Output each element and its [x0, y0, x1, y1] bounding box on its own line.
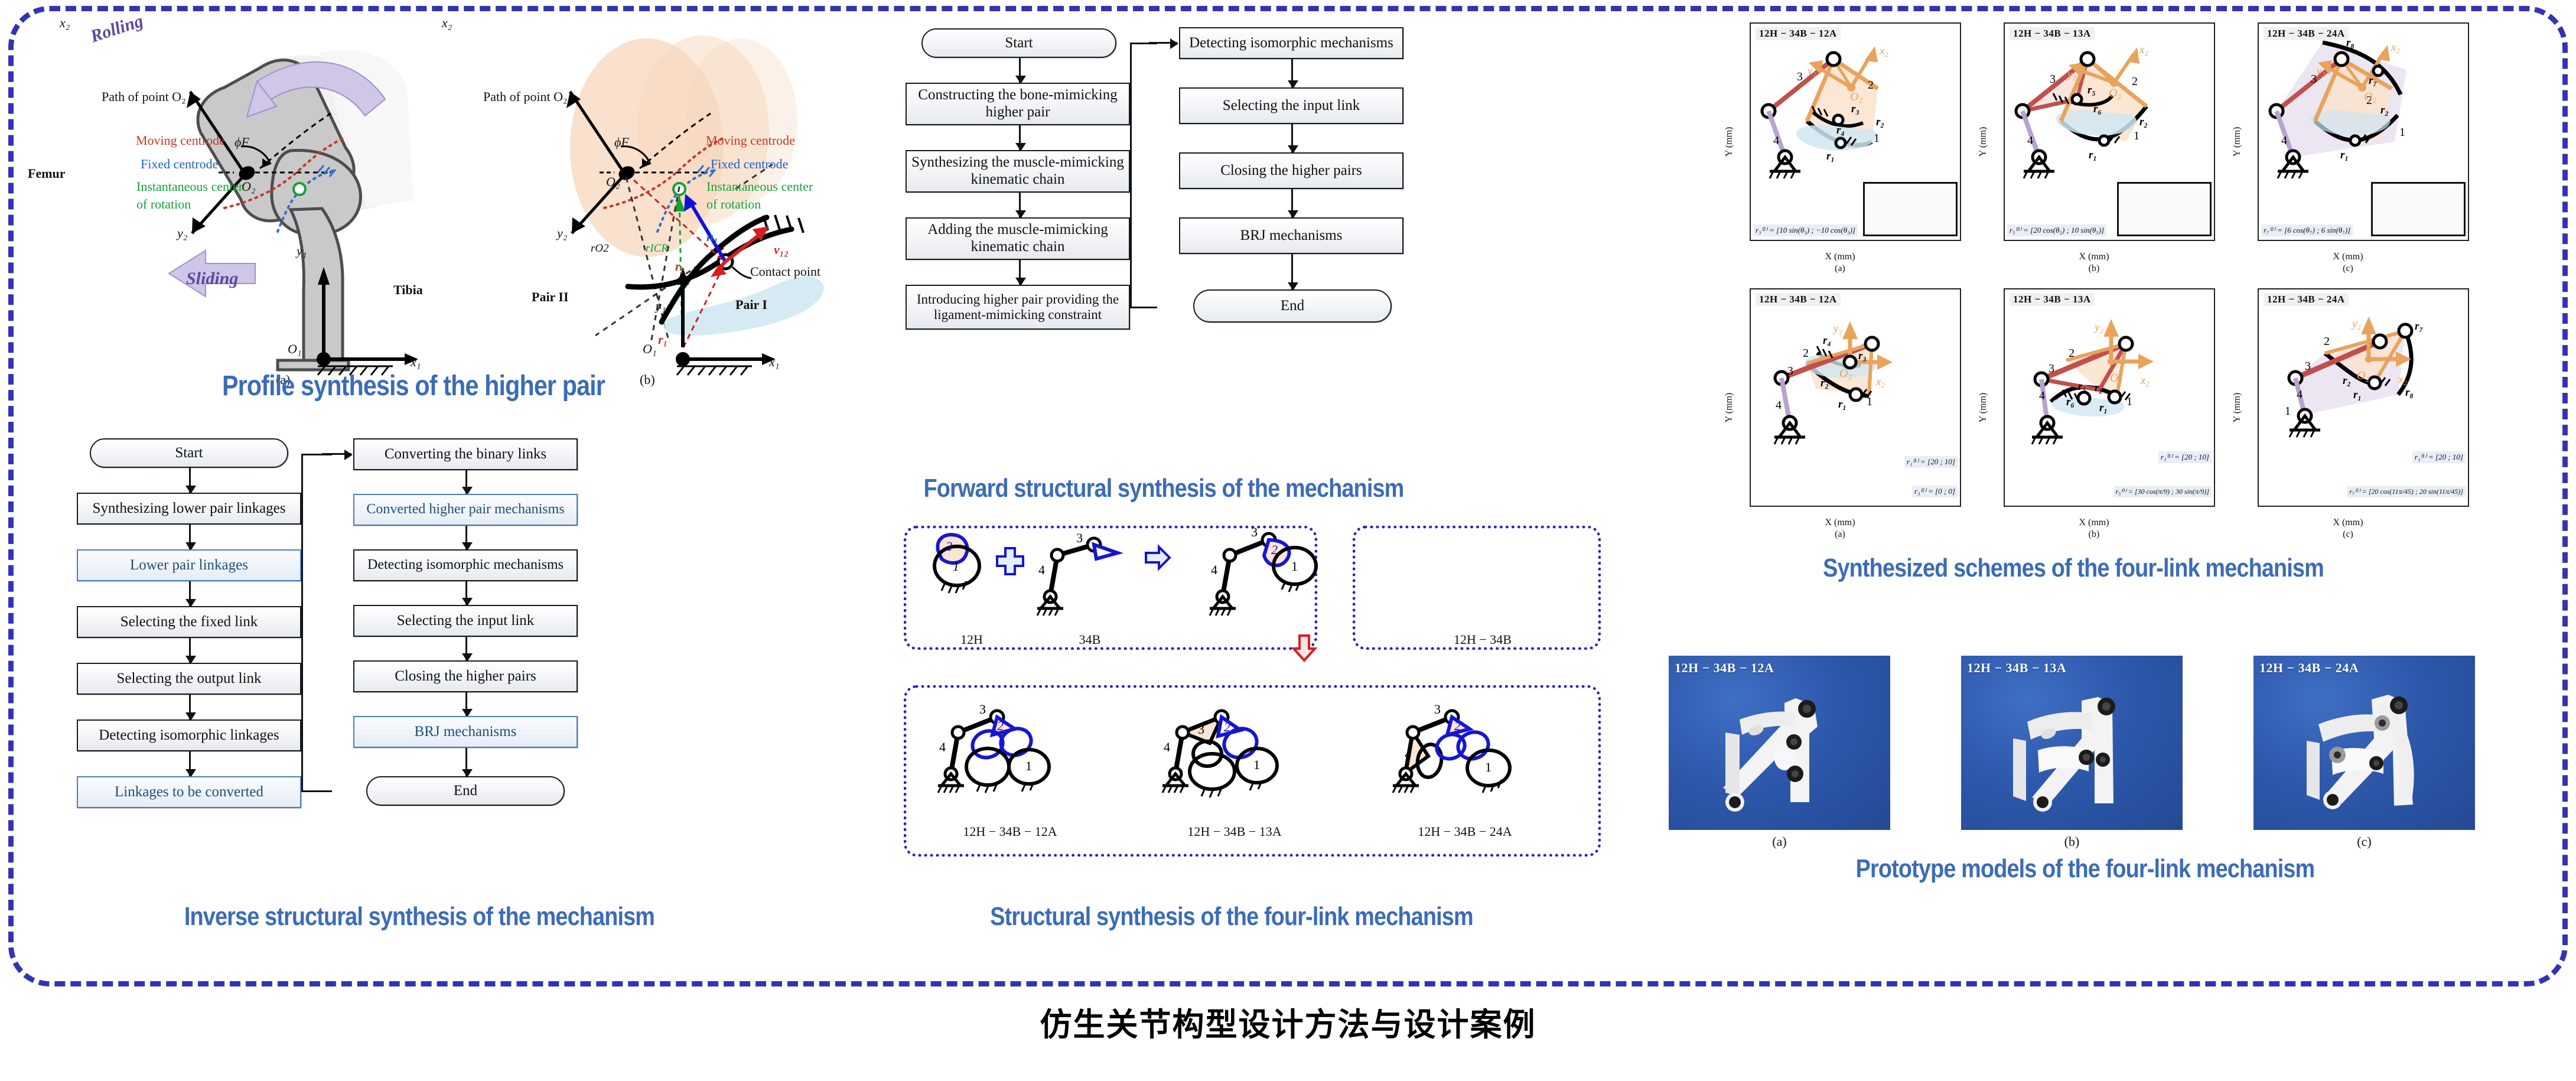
chart-top-2: Y (mm) 12H − 34B − 13A 50 40 30 20 10 0 … — [1967, 12, 2221, 272]
chart-subcaption: (c) — [2343, 529, 2353, 540]
svg-text:O₂: O₂ — [2357, 369, 2369, 382]
chart-xlabel: X (mm) — [2333, 517, 2363, 528]
flow-arrow — [1019, 58, 1021, 83]
origin-o2-b: O₂ — [606, 174, 620, 190]
chart-equation-1: r₁⁽¹⁾ = [20 ; 10] — [1904, 456, 1958, 468]
svg-text:3: 3 — [2311, 73, 2317, 86]
svg-text:r₆: r₆ — [2066, 396, 2075, 408]
prototype-shape-a — [1669, 656, 1890, 830]
svg-text:1: 1 — [1291, 559, 1298, 574]
r-icr-label: rICR — [646, 242, 668, 255]
svg-text:4: 4 — [2039, 389, 2045, 402]
flow-right-6[interactable]: End — [366, 776, 565, 806]
prototype-caption-b: (b) — [1961, 834, 2183, 849]
axis-label-y1-a: y₁ — [297, 243, 307, 259]
svg-text:1: 1 — [953, 559, 959, 574]
flow-right-4[interactable]: Closing the higher pairs — [353, 660, 578, 692]
four-link-synthesis-title: Structural synthesis of the four-link me… — [894, 904, 1569, 930]
mechanism-diagrams-svg: 2 1 4 3 — [886, 520, 1624, 862]
flow-arrow — [465, 692, 467, 716]
svg-text:r₂: r₂ — [1876, 116, 1884, 128]
mech-label-24a: 12H − 34B − 24A — [1376, 824, 1554, 839]
fwd-right-0[interactable]: Detecting isomorphic mechanisms — [1179, 27, 1403, 59]
svg-text:2: 2 — [1803, 347, 1809, 360]
svg-text:x₂: x₂ — [1879, 45, 1888, 57]
svg-text:x₂: x₂ — [2391, 41, 2400, 54]
svg-text:4: 4 — [1776, 399, 1782, 412]
forward-flow-title: Forward structural synthesis of the mech… — [864, 476, 1464, 502]
flow-connector-arrow — [322, 453, 351, 455]
axis-label-x2-a: x₂ — [60, 15, 70, 31]
mech-label-12h-34b: 12H − 34B — [1418, 632, 1548, 647]
svg-text:4: 4 — [2027, 134, 2033, 147]
chart-linkage-svg: 2 3 4 1 O₂ x₂ y₂ r₇ r₈ r₂ r₁ — [2259, 289, 2469, 496]
svg-text:1: 1 — [2399, 126, 2405, 139]
svg-text:3: 3 — [1434, 702, 1441, 717]
chart-bot-3: Y (mm) 12H − 34B − 24A 60 40 20 0 -20 -3… — [2221, 278, 2475, 538]
svg-text:O₂: O₂ — [1839, 367, 1852, 380]
chart-plot-area: 12H − 34B − 24A 50 40 30 20 10 0 -10 -20… — [2258, 22, 2469, 241]
svg-text:r₈: r₈ — [2405, 386, 2414, 399]
svg-text:y₂: y₂ — [2351, 318, 2361, 330]
flow-left-6[interactable]: Linkages to be converted — [77, 776, 301, 808]
flow-left-2[interactable]: Lower pair linkages — [77, 549, 301, 581]
svg-text:r₃: r₃ — [1858, 350, 1867, 362]
chart-equation-2: r₅⁽³⁾ = [30 cos(π/9) ; 30 sin(π/9)] — [2113, 486, 2212, 497]
svg-text:2: 2 — [946, 539, 952, 553]
fwd-left-4[interactable]: Introducing higher pair providing the li… — [906, 285, 1130, 330]
chart-plot-area: 12H − 34B − 12A 60 40 20 0 -20 -30 -10 1… — [1750, 288, 1961, 507]
chart-inset — [2371, 182, 2466, 236]
svg-text:1: 1 — [2285, 405, 2291, 418]
chart-xlabel: X (mm) — [2079, 517, 2109, 528]
flow-arrow — [1291, 254, 1293, 289]
prototype-caption-c: (c) — [2253, 834, 2475, 849]
chart-ylabel: Y (mm) — [1724, 393, 1734, 423]
chart-plot-area: 12H − 34B − 13A 50 40 30 20 10 0 -10 -20… — [2004, 22, 2215, 241]
svg-text:r₄: r₄ — [1823, 334, 1831, 347]
chart-ylabel: Y (mm) — [1724, 127, 1734, 157]
flow-right-1[interactable]: Converted higher pair mechanisms — [353, 494, 578, 526]
phi-f-label-a: ϕF — [235, 135, 249, 150]
flow-arrow — [1291, 189, 1293, 217]
chart-equation: r₇⁽²⁾ = [6 cos(θ₇) ; 6 sin(θ₇)] — [2261, 224, 2353, 236]
svg-text:r₁: r₁ — [2099, 402, 2108, 414]
icr-label-b2: of rotation — [706, 197, 761, 212]
flow-arrow — [189, 751, 191, 776]
fwd-right-1[interactable]: Selecting the input link — [1179, 87, 1403, 124]
svg-text:r₃: r₃ — [1851, 103, 1859, 115]
svg-text:r₅: r₅ — [2078, 380, 2086, 393]
profile-synthesis-title: Profile synthesis of the higher pair — [89, 372, 739, 401]
axis-label-x1-a: x₁ — [411, 354, 421, 370]
chart-xlabel: X (mm) — [2079, 252, 2109, 262]
svg-text:r₂: r₂ — [1821, 377, 1829, 389]
svg-text:y₂: y₂ — [2316, 65, 2326, 77]
svg-text:3: 3 — [2050, 73, 2056, 86]
svg-text:1: 1 — [1025, 758, 1032, 773]
flow-connector — [301, 454, 332, 792]
flow-arrow — [465, 526, 467, 549]
flow-arrow — [189, 468, 191, 493]
chart-equation-2: r₇⁽²⁾ = [20 cos(11π/45) ; 20 sin(11π/45)… — [2347, 486, 2466, 497]
svg-text:r₇: r₇ — [2415, 320, 2423, 333]
svg-text:x₂: x₂ — [2398, 373, 2407, 386]
svg-text:r₂: r₂ — [2380, 104, 2389, 116]
flow-arrow — [465, 748, 467, 776]
svg-text:y₂: y₂ — [1806, 65, 1816, 77]
svg-text:1: 1 — [2134, 129, 2139, 142]
svg-text:2: 2 — [1271, 542, 1278, 557]
chart-ylabel: Y (mm) — [2232, 127, 2242, 157]
flow-arrow — [189, 695, 191, 719]
svg-text:4: 4 — [1164, 740, 1170, 754]
femur-label: Femur — [28, 166, 66, 181]
fwd-left-1[interactable]: Constructing the bone-mimicking higher p… — [906, 83, 1130, 125]
prototype-shape-c — [2253, 656, 2475, 830]
poster-footer-title: 仿生关节构型设计方法与设计案例 — [0, 998, 2576, 1045]
chart-bot-2: Y (mm) 12H − 34B − 13A 60 40 20 0 -20 -3… — [1967, 278, 2221, 538]
chart-equation: r₅⁽³⁾ = [20 cos(θ₅) ; 10 sin(θ₅)] — [2007, 224, 2106, 236]
svg-text:1: 1 — [1485, 760, 1491, 774]
flow-left-4[interactable]: Selecting the output link — [77, 663, 301, 695]
prototype-photo-a[interactable]: 12H − 34B − 12A — [1669, 656, 1890, 830]
svg-text:4: 4 — [1773, 134, 1779, 147]
flow-arrow — [189, 638, 191, 663]
sliding-label: Sliding — [186, 269, 238, 289]
mech-label-34b: 34B — [1046, 632, 1134, 647]
flow-right-3[interactable]: Selecting the input link — [353, 605, 578, 637]
path-of-point-label-a: Path of point O₂ — [102, 89, 186, 105]
svg-text:r₁: r₁ — [2353, 389, 2362, 401]
flow-left-0[interactable]: Start — [90, 438, 288, 468]
flow-left-3[interactable]: Selecting the fixed link — [77, 606, 301, 638]
flow-arrow — [465, 581, 467, 605]
chart-xlabel: X (mm) — [1825, 517, 1855, 528]
svg-text:1: 1 — [1867, 395, 1872, 408]
fwd-right-3[interactable]: BRJ mechanisms — [1179, 217, 1403, 254]
svg-text:4: 4 — [939, 740, 946, 754]
r2-label: r₂ — [675, 259, 685, 274]
moving-centrode-label-b: Moving centrode — [706, 133, 795, 148]
svg-text:r₈: r₈ — [2346, 37, 2354, 49]
svg-text:3: 3 — [1787, 364, 1793, 377]
svg-text:2: 2 — [2069, 347, 2075, 360]
chart-equation-1: r₁⁽¹⁾ = [20 ; 10] — [2158, 451, 2212, 463]
tibia-label: Tibia — [393, 282, 423, 298]
synthesized-schemes-title: Synthesized schemes of the four-link mec… — [1723, 555, 2424, 581]
svg-text:r₇: r₇ — [2369, 74, 2377, 87]
axis-label-y2-a: y₂ — [177, 226, 187, 241]
svg-text:2: 2 — [1454, 718, 1461, 733]
svg-text:2: 2 — [1224, 719, 1230, 734]
svg-text:3: 3 — [1198, 722, 1204, 737]
origin-o1-a: O₁ — [288, 341, 302, 357]
svg-text:O₂: O₂ — [2109, 87, 2121, 100]
svg-text:O₂: O₂ — [2364, 90, 2376, 103]
moving-centrode-label-a: Moving centrode — [136, 133, 225, 148]
flow-arrow — [465, 470, 467, 494]
svg-text:3: 3 — [2049, 362, 2054, 375]
chart-subcaption: (b) — [2089, 263, 2100, 274]
chart-plot-area: 12H − 34B − 12A 50 40 30 20 10 0 -10 -20… — [1750, 22, 1961, 241]
chart-ylabel: Y (mm) — [1978, 393, 1988, 423]
inverse-flow-title: Inverse structural synthesis of the mech… — [69, 904, 770, 930]
v12-label: v₁₂ — [774, 242, 789, 258]
fwd-left-3[interactable]: Adding the muscle-mimicking kinematic ch… — [906, 217, 1130, 260]
n1-label: n₁ — [706, 229, 718, 245]
prototype-shape-b — [1961, 656, 2183, 830]
svg-text:3: 3 — [1251, 525, 1258, 539]
icr-label-a2: of rotation — [136, 197, 191, 212]
flow-arrow — [189, 525, 191, 549]
flow-connector-arrow — [1149, 42, 1177, 44]
fwd-left-0[interactable]: Start — [921, 28, 1116, 58]
chart-inset — [2117, 182, 2212, 236]
svg-text:1: 1 — [2126, 395, 2132, 408]
chart-inset — [1863, 182, 1958, 236]
svg-text:2: 2 — [1868, 79, 1874, 92]
svg-text:r₅: r₅ — [2087, 84, 2096, 96]
svg-text:y₂: y₂ — [2066, 69, 2076, 81]
svg-text:4: 4 — [1405, 747, 1411, 761]
svg-text:3: 3 — [1797, 70, 1803, 83]
chart-ylabel: Y (mm) — [2232, 393, 2242, 423]
fwd-right-4[interactable]: End — [1193, 289, 1392, 323]
r-o2-label: rO2 — [591, 242, 609, 255]
fixed-centrode-label-a: Fixed centrode — [141, 157, 218, 172]
svg-text:3: 3 — [2305, 360, 2311, 373]
svg-text:3: 3 — [979, 702, 986, 717]
axis-label-x2-b: x₂ — [442, 15, 452, 31]
fixed-centrode-label-b: Fixed centrode — [711, 157, 788, 172]
svg-text:r₂: r₂ — [2343, 375, 2351, 387]
svg-text:x₂: x₂ — [1875, 376, 1885, 388]
flow-connector — [1130, 43, 1157, 308]
prototype-photo-c[interactable]: 12H − 34B − 24A — [2253, 656, 2475, 830]
axis-label-y2-b: y₂ — [557, 226, 567, 241]
pair-i-label: Pair I — [735, 297, 767, 312]
svg-text:4: 4 — [2297, 388, 2303, 401]
axis-label-x1-b: x₁ — [769, 354, 779, 370]
phi-f-label-b: ϕF — [614, 135, 629, 150]
svg-text:4: 4 — [1038, 562, 1045, 577]
path-of-point-label-b: Path of point O₂ — [483, 89, 568, 105]
r1-label: r₁ — [658, 332, 667, 347]
svg-text:r₆: r₆ — [2093, 103, 2102, 115]
svg-text:1: 1 — [1874, 132, 1880, 145]
chart-plot-area: 12H − 34B − 24A 60 40 20 0 -20 -30 -10 1… — [2258, 288, 2469, 507]
svg-text:2: 2 — [2132, 75, 2138, 88]
fwd-left-2[interactable]: Synthesizing the muscle-mimicking kinema… — [906, 150, 1130, 193]
chart-equation-2: r₃⁽²⁾ = [0 ; 0] — [1912, 486, 1958, 497]
chart-top-1: Y (mm) 12H − 34B − 12A 50 40 30 20 10 0 … — [1713, 12, 1967, 272]
chart-subcaption: (c) — [2343, 263, 2353, 274]
chart-equation-1: r₁⁽¹⁾ = [20 ; 10] — [2412, 451, 2466, 463]
svg-text:1: 1 — [1253, 757, 1260, 772]
svg-text:r₁: r₁ — [2340, 149, 2349, 161]
svg-text:r₁: r₁ — [1826, 150, 1835, 162]
flow-arrow — [1019, 193, 1021, 217]
svg-text:r₄: r₄ — [1836, 124, 1845, 136]
flow-right-2[interactable]: Detecting isomorphic mechanisms — [353, 549, 578, 581]
icr-label-b: Instantaneous center — [706, 179, 813, 194]
chart-plot-area: 12H − 34B − 13A 60 40 20 0 -20 -30 -10 1… — [2004, 288, 2215, 507]
svg-text:3: 3 — [1076, 530, 1083, 545]
prototype-caption-a: (a) — [1669, 834, 1890, 849]
chart-top-3: Y (mm) 12H − 34B − 24A 50 40 30 20 10 0 … — [2221, 12, 2475, 272]
svg-text:x₂: x₂ — [2140, 375, 2150, 387]
svg-text:r₁: r₁ — [1838, 398, 1846, 411]
chart-bot-1: Y (mm) 12H − 34B − 12A 60 40 20 0 -20 -3… — [1713, 278, 1967, 538]
svg-text:O₂: O₂ — [2110, 372, 2122, 385]
flow-arrow — [1291, 59, 1293, 87]
flow-left-5[interactable]: Detecting isomorphic linkages — [77, 719, 301, 751]
pair-ii-label: Pair II — [532, 289, 569, 305]
svg-text:r₁: r₁ — [2089, 149, 2097, 161]
chart-xlabel: X (mm) — [1825, 252, 1855, 262]
flow-arrow — [1291, 124, 1293, 152]
mech-label-12h: 12H — [927, 632, 1016, 647]
svg-text:4: 4 — [1211, 562, 1217, 577]
prototypes-title: Prototype models of the four-link mechan… — [1786, 855, 2385, 883]
svg-text:2: 2 — [2324, 335, 2330, 348]
flow-left-1[interactable]: Synthesizing lower pair linkages — [77, 493, 301, 525]
svg-text:y₂: y₂ — [2093, 321, 2103, 334]
chart-ylabel: Y (mm) — [1978, 127, 1988, 157]
chart-equation: r₃⁽²⁾ = [10 sin(θ₃) ; −10 cos(θ₃)] — [1753, 224, 1858, 236]
flow-arrow — [465, 637, 467, 660]
chart-linkage-svg: 2 3 4 1 O₂ x₂ y₂ r₅ r₆ r₂ r₁ — [2005, 289, 2215, 496]
prototype-photo-b[interactable]: 12H − 34B − 13A — [1961, 656, 2183, 830]
chart-subcaption: (a) — [1835, 529, 1845, 540]
mech-label-13a: 12H − 34B − 13A — [1146, 824, 1323, 839]
origin-o1-b: O₁ — [643, 341, 657, 357]
svg-text:x₂: x₂ — [2139, 44, 2148, 56]
flow-arrow — [1019, 260, 1021, 285]
chart-subcaption: (a) — [1835, 263, 1845, 274]
flow-right-0[interactable]: Converting the binary links — [353, 438, 578, 470]
svg-text:r₂: r₂ — [2139, 116, 2148, 128]
svg-text:2: 2 — [997, 718, 1004, 733]
svg-text:y₂: y₂ — [1832, 323, 1842, 335]
mech-label-12a: 12H − 34B − 12A — [921, 824, 1099, 839]
origin-o2-a: O₂ — [242, 179, 256, 194]
contact-point-label: Contact point — [750, 264, 820, 279]
flow-right-5[interactable]: BRJ mechanisms — [353, 716, 578, 748]
axis-label-y1-b: y₁ — [656, 298, 666, 314]
chart-subcaption: (b) — [2089, 529, 2100, 540]
fwd-right-2[interactable]: Closing the higher pairs — [1179, 152, 1403, 189]
icr-label-a: Instantaneous center — [136, 179, 243, 194]
flow-arrow — [1019, 125, 1021, 150]
svg-text:O₂: O₂ — [1850, 90, 1862, 103]
flow-arrow — [189, 581, 191, 606]
svg-text:4: 4 — [2281, 134, 2287, 147]
svg-text:r₂: r₂ — [2095, 382, 2103, 394]
chart-xlabel: X (mm) — [2333, 252, 2363, 262]
